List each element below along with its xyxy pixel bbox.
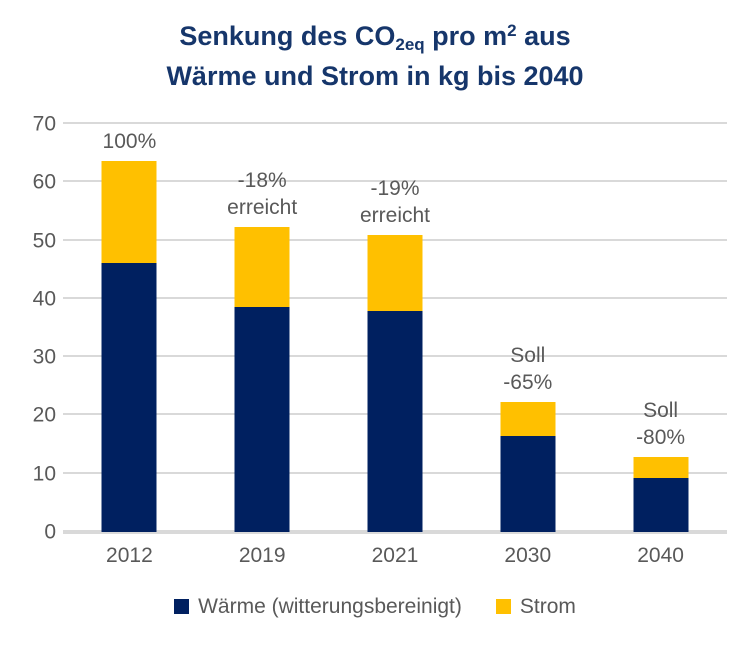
chart-title-text-part-2: pro m: [425, 21, 508, 51]
legend-label: Strom: [520, 596, 576, 617]
chart-legend: Wärme (witterungsbereinigt)Strom: [0, 596, 750, 617]
x-axis-tick-label-2019: 2019: [196, 543, 329, 569]
legend-swatch-icon: [174, 599, 189, 614]
x-axis-tick-label-2040: 2040: [594, 543, 727, 569]
bar-segment-waerme[interactable]: [500, 436, 555, 532]
chart-title: Senkung des CO2eq pro m2 aus Wärme und S…: [0, 18, 750, 94]
legend-label: Wärme (witterungsbereinigt): [198, 596, 462, 617]
y-axis-tick-label: 30: [0, 347, 56, 368]
bar-segment-strom[interactable]: [367, 235, 422, 310]
bar-annotation-2019: -18% erreicht: [187, 167, 337, 221]
chart-title-superscript: 2: [507, 21, 516, 40]
bar-segment-strom[interactable]: [235, 227, 290, 307]
legend-item-strom[interactable]: Strom: [496, 596, 576, 617]
bar-group-2012[interactable]: 100%: [63, 124, 196, 532]
y-axis-tick-label: 40: [0, 288, 56, 309]
bar-stack[interactable]: [367, 235, 422, 532]
bar-stack[interactable]: [633, 457, 688, 532]
x-axis-tick-label-2030: 2030: [461, 543, 594, 569]
bars-layer: 100%-18% erreicht-19% erreichtSoll -65%S…: [63, 124, 727, 532]
bar-segment-waerme[interactable]: [633, 478, 688, 532]
bar-group-2021[interactable]: -19% erreicht: [329, 124, 462, 532]
bar-segment-strom[interactable]: [102, 161, 157, 263]
y-axis-tick-label: 0: [0, 522, 56, 543]
legend-swatch-icon: [496, 599, 511, 614]
x-axis-tick-label-2021: 2021: [329, 543, 462, 569]
bar-stack[interactable]: [500, 402, 555, 532]
bar-segment-strom[interactable]: [633, 457, 688, 477]
bar-segment-waerme[interactable]: [102, 263, 157, 532]
x-axis-labels: 20122019202120302040: [63, 543, 727, 575]
y-axis-tick-label: 50: [0, 230, 56, 251]
bar-annotation-2012: 100%: [54, 128, 204, 155]
x-axis-line: [63, 532, 727, 534]
legend-item-waerme[interactable]: Wärme (witterungsbereinigt): [174, 596, 462, 617]
chart-title-subscript: 2eq: [395, 35, 424, 54]
chart-title-line-1: Senkung des CO2eq pro m2 aus: [0, 18, 750, 58]
y-axis-labels: 010203040506070: [0, 124, 56, 532]
y-axis-tick-label: 60: [0, 172, 56, 193]
bar-segment-waerme[interactable]: [367, 311, 422, 532]
bar-stack[interactable]: [102, 161, 157, 532]
bar-segment-waerme[interactable]: [235, 307, 290, 532]
bar-segment-strom[interactable]: [500, 402, 555, 436]
y-axis-tick-label: 70: [0, 114, 56, 135]
bar-group-2019[interactable]: -18% erreicht: [196, 124, 329, 532]
bar-stack[interactable]: [235, 227, 290, 532]
bar-annotation-2021: -19% erreicht: [320, 175, 470, 229]
bar-annotation-2030: Soll -65%: [453, 342, 603, 396]
y-axis-tick-label: 20: [0, 405, 56, 426]
chart-container: Senkung des CO2eq pro m2 aus Wärme und S…: [0, 0, 750, 648]
bar-group-2040[interactable]: Soll -80%: [594, 124, 727, 532]
chart-title-text-part-3: aus: [517, 21, 571, 51]
bar-annotation-2040: Soll -80%: [586, 397, 736, 451]
bar-group-2030[interactable]: Soll -65%: [461, 124, 594, 532]
x-axis-tick-label-2012: 2012: [63, 543, 196, 569]
chart-title-line-2: Wärme und Strom in kg bis 2040: [0, 58, 750, 94]
y-axis-tick-label: 10: [0, 463, 56, 484]
chart-title-text-part-1: Senkung des CO: [179, 21, 395, 51]
